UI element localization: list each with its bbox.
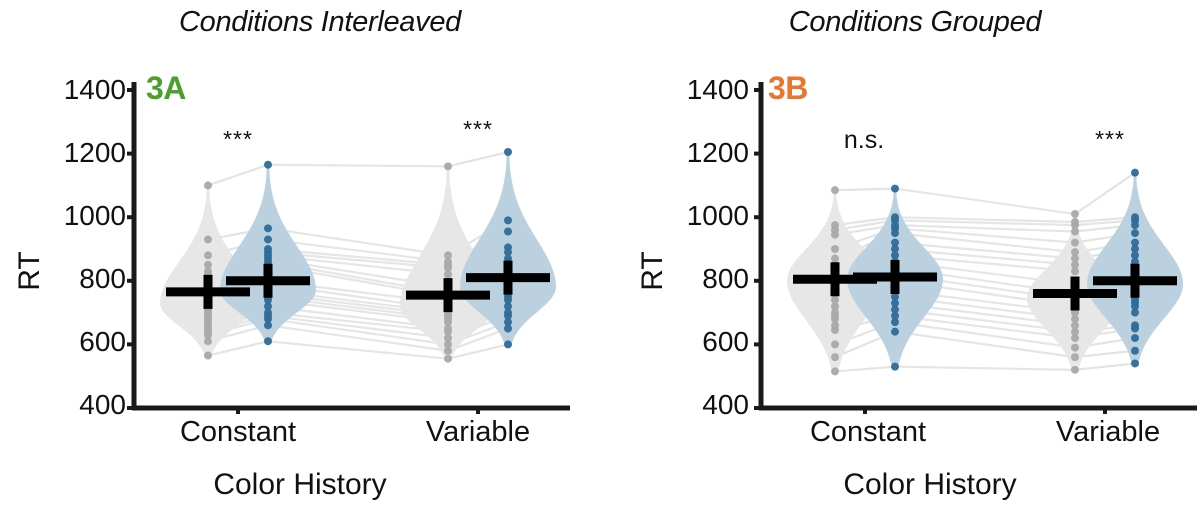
plot-area-3a <box>0 0 600 528</box>
plot-area-3b <box>600 0 1200 528</box>
panel-3a: Conditions Interleaved 3A RT 1400 1200 1… <box>0 0 600 528</box>
panel-3b: Conditions Grouped 3B RT 1400 1200 1000 … <box>600 0 1200 528</box>
figure-container: Conditions Interleaved 3A RT 1400 1200 1… <box>0 0 1200 528</box>
